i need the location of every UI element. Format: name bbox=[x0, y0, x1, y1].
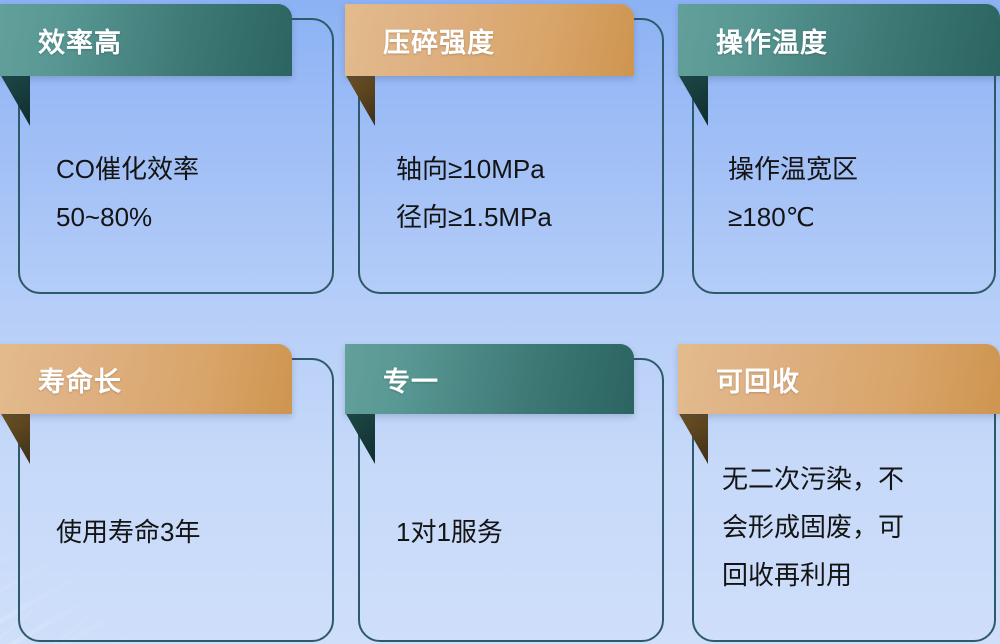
ribbon-header-operating-temperature: 操作温度 bbox=[678, 4, 1000, 76]
card-title: 压碎强度 bbox=[383, 21, 495, 60]
card-body-crush-strength: 轴向≥10MPa 径向≥1.5MPa bbox=[396, 145, 656, 241]
ribbon-fold-icon bbox=[0, 74, 30, 126]
ribbon-header-dedicated-service: 专一 bbox=[345, 344, 634, 414]
card-title: 可回收 bbox=[716, 360, 800, 399]
ribbon-header-crush-strength: 压碎强度 bbox=[345, 4, 634, 76]
ribbon-header-recyclable: 可回收 bbox=[678, 344, 1000, 414]
ribbon-header-long-life: 寿命长 bbox=[0, 344, 292, 414]
card-body-efficiency: CO催化效率 50~80% bbox=[56, 145, 321, 241]
card-title: 专一 bbox=[383, 360, 439, 399]
card-title: 寿命长 bbox=[38, 360, 122, 399]
card-body-long-life: 使用寿命3年 bbox=[56, 508, 321, 556]
card-title: 操作温度 bbox=[716, 21, 828, 60]
infographic-canvas: 效率高 CO催化效率 50~80% 压碎强度 轴向≥10MPa 径向≥1.5MP… bbox=[0, 0, 1000, 644]
card-body-dedicated-service: 1对1服务 bbox=[396, 508, 656, 556]
card-body-operating-temperature: 操作温宽区 ≥180℃ bbox=[728, 145, 986, 241]
ribbon-header-efficiency: 效率高 bbox=[0, 4, 292, 76]
card-body-recyclable: 无二次污染，不 会形成固废，可 回收再利用 bbox=[722, 455, 992, 599]
card-title: 效率高 bbox=[38, 21, 122, 60]
